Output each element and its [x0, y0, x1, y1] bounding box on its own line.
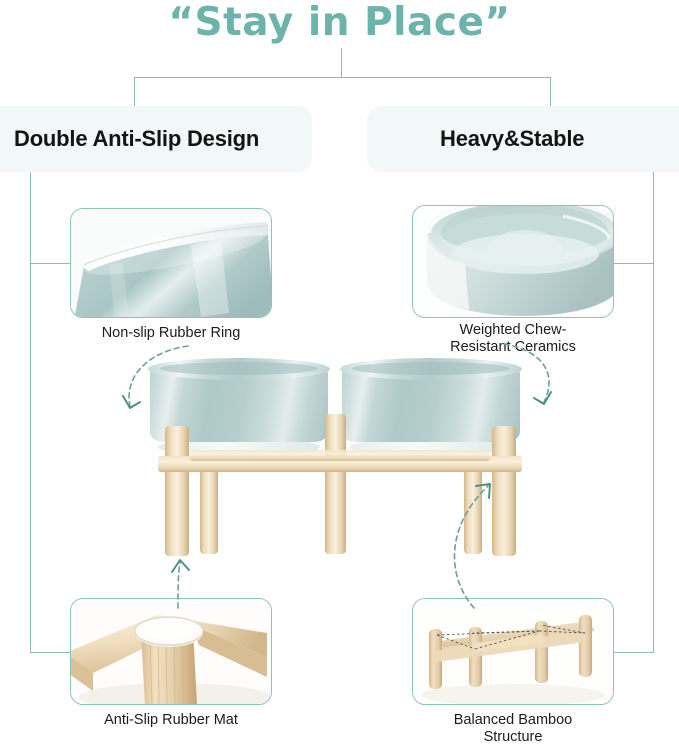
connector-right-spine: [653, 172, 654, 652]
stand-rail-back: [190, 450, 490, 461]
caption-line-1: Weighted Chew-: [460, 322, 567, 338]
connector-top-bracket: [134, 77, 550, 78]
photo-bamboo-leg-corner-with-clear-round-rubber-pad: [71, 599, 271, 704]
stand-leg-front-left: [165, 426, 189, 556]
arrowhead-left-bowl: [123, 396, 140, 408]
connector-left-spine: [30, 172, 31, 652]
category-pill-label: Heavy&Stable: [440, 126, 584, 152]
connector-left-top-branch: [30, 263, 72, 264]
connector-left-bot-branch: [30, 652, 72, 653]
caption-line-2: Resistant Ceramics: [450, 339, 576, 355]
feature-caption-balanced-bamboo-structure: Balanced Bamboo Structure: [388, 712, 638, 744]
feature-card-non-slip-rubber-ring[interactable]: [70, 208, 272, 318]
feature-card-anti-slip-rubber-mat[interactable]: [70, 598, 272, 705]
photo-bamboo-stand-frame-with-dotted-triangulation-lines: [413, 599, 613, 704]
feature-card-balanced-bamboo-structure[interactable]: [412, 598, 614, 705]
infographic-page: “Stay in Place” Double Anti-Slip Design …: [0, 0, 679, 744]
page-title: “Stay in Place”: [0, 0, 679, 48]
hero-product-elevated-double-ceramic-pet-bowl-on-bamboo-stand: [140, 358, 540, 583]
connector-right-bot-branch: [612, 652, 654, 653]
photo-empty-mint-ceramic-bowl-interior-closeup: [413, 206, 613, 317]
stand-leg-back-right: [464, 458, 482, 554]
stand-center-post: [325, 414, 346, 554]
stand-leg-back-left: [200, 458, 218, 554]
feature-card-weighted-chew-resistant-ceramics[interactable]: [412, 205, 614, 318]
category-pill-label: Double Anti-Slip Design: [14, 126, 259, 152]
right-bowl-rim-inner: [352, 362, 510, 375]
connector-right-top-branch: [612, 263, 654, 264]
stand-leg-front-right: [492, 426, 516, 556]
category-pill-double-anti-slip-design[interactable]: Double Anti-Slip Design: [0, 106, 312, 172]
feature-caption-non-slip-rubber-ring: Non-slip Rubber Ring: [46, 325, 296, 342]
connector-title-stem: [341, 48, 342, 77]
caption-line-2: Structure: [484, 729, 543, 744]
feature-caption-weighted-chew-resistant-ceramics: Weighted Chew- Resistant Ceramics: [388, 322, 638, 355]
category-pill-heavy-stable[interactable]: Heavy&Stable: [367, 106, 679, 172]
photo-tilted-ceramic-bowl-base-with-white-rubber-ring: [71, 209, 271, 317]
caption-line-1: Balanced Bamboo: [454, 712, 573, 728]
left-bowl-rim-inner: [160, 362, 318, 375]
feature-caption-anti-slip-rubber-mat: Anti-Slip Rubber Mat: [46, 712, 296, 729]
